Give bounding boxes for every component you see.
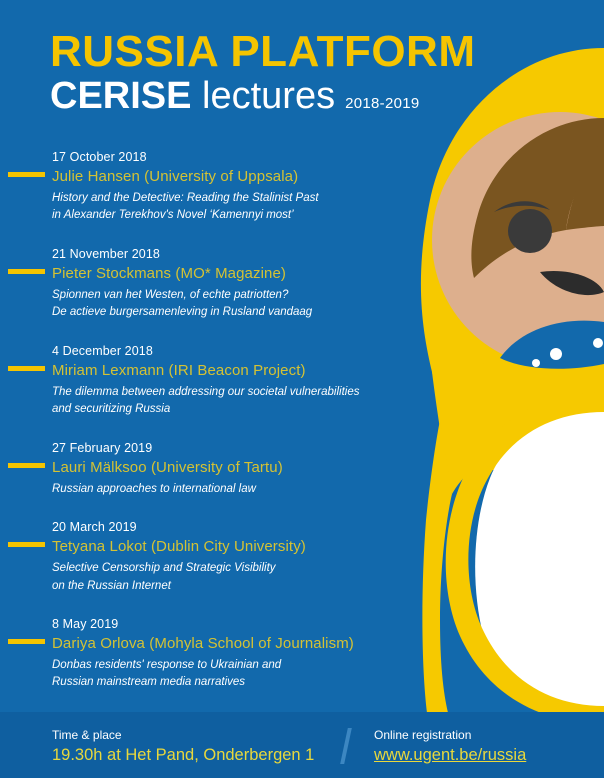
lecture-topic-line: Selective Censorship and Strategic Visib… xyxy=(52,560,430,577)
doll-dress xyxy=(430,300,604,720)
doll-scarf-front xyxy=(432,330,604,494)
lecture-item: 21 November 2018 Pieter Stockmans (MO* M… xyxy=(0,245,430,321)
poster-header: RUSSIA PLATFORM CERISE lectures 2018-201… xyxy=(50,30,475,117)
footer-registration-block: Online registration www.ugent.be/russia xyxy=(374,726,526,768)
lecture-speaker: Tetyana Lokot (Dublin City University) xyxy=(52,536,430,559)
registration-label: Online registration xyxy=(374,726,526,744)
accent-bar-icon xyxy=(8,172,45,177)
lecture-topic-line: on the Russian Internet xyxy=(52,578,430,595)
lecture-date: 27 February 2019 xyxy=(52,439,430,457)
page-subtitle: CERISE lectures xyxy=(50,77,335,117)
doll-scarf-dot-2 xyxy=(550,348,562,360)
lecture-date: 21 November 2018 xyxy=(52,245,430,263)
doll-scarf-leaf xyxy=(500,321,604,369)
footer-inner: Time & place 19.30h at Het Pand, Onderbe… xyxy=(0,712,604,778)
lecture-topic-line: Spionnen van het Westen, of echte patrio… xyxy=(52,287,430,304)
registration-link[interactable]: www.ugent.be/russia xyxy=(374,744,526,768)
accent-bar-icon xyxy=(8,366,45,371)
lecture-speaker: Dariya Orlova (Mohyla School of Journali… xyxy=(52,633,430,656)
footer-time-place-block: Time & place 19.30h at Het Pand, Onderbe… xyxy=(52,726,314,768)
doll-face xyxy=(432,112,604,368)
page-title: RUSSIA PLATFORM xyxy=(50,30,475,75)
accent-bar-icon xyxy=(8,542,45,547)
lecture-topic-line: The dilemma between addressing our socie… xyxy=(52,384,430,401)
lecture-topic-line: in Alexander Terekhov's Novel ‘Kamennyi … xyxy=(52,207,430,224)
academic-years: 2018-2019 xyxy=(345,95,419,112)
lecture-speaker: Julie Hansen (University of Uppsala) xyxy=(52,166,430,189)
doll-eyebrow xyxy=(494,201,550,212)
accent-bar-icon xyxy=(8,639,45,644)
lecture-date: 17 October 2018 xyxy=(52,148,430,166)
lecture-topic-line: History and the Detective: Reading the S… xyxy=(52,190,430,207)
lecture-topic-line: Russian approaches to international law xyxy=(52,481,430,498)
doll-hair xyxy=(471,118,604,278)
lecture-speaker: Miriam Lexmann (IRI Beacon Project) xyxy=(52,360,430,383)
lecture-date: 20 March 2019 xyxy=(52,518,430,536)
lecture-date: 8 May 2019 xyxy=(52,615,430,633)
lecture-item: 4 December 2018 Miriam Lexmann (IRI Beac… xyxy=(0,342,430,418)
lecture-topic-line: Donbas residents' response to Ukrainian … xyxy=(52,657,430,674)
lecture-list: 17 October 2018 Julie Hansen (University… xyxy=(0,148,430,712)
time-place-label: Time & place xyxy=(52,726,314,744)
time-place-value: 19.30h at Het Pand, Onderbergen 1 xyxy=(52,744,314,768)
doll-scarf-dot-1 xyxy=(532,359,540,367)
lecture-item: 27 February 2019 Lauri Mälksoo (Universi… xyxy=(0,439,430,497)
subtitle-row: CERISE lectures 2018-2019 xyxy=(50,77,475,117)
subtitle-bold: CERISE xyxy=(50,75,191,117)
doll-smile xyxy=(540,271,604,295)
lecture-topic-line: Russian mainstream media narratives xyxy=(52,674,430,691)
poster-footer: Time & place 19.30h at Het Pand, Onderbe… xyxy=(0,712,604,778)
accent-bar-icon xyxy=(8,269,45,274)
accent-bar-icon xyxy=(8,463,45,468)
doll-hair-fringe xyxy=(566,138,604,230)
subtitle-light: lectures xyxy=(191,75,335,117)
doll-apron-border xyxy=(446,392,604,724)
doll-apron xyxy=(475,398,604,724)
lecture-topic-line: and securitizing Russia xyxy=(52,401,430,418)
doll-arm-band xyxy=(455,404,604,500)
lecture-topic-line: De actieve burgersamenleving in Rusland … xyxy=(52,304,430,321)
lecture-date: 4 December 2018 xyxy=(52,342,430,360)
doll-scarf-dot-3 xyxy=(593,338,603,348)
lecture-item: 8 May 2019 Dariya Orlova (Mohyla School … xyxy=(0,615,430,691)
lecture-speaker: Lauri Mälksoo (University of Tartu) xyxy=(52,457,430,480)
lecture-item: 20 March 2019 Tetyana Lokot (Dublin City… xyxy=(0,518,430,594)
poster-root: RUSSIA PLATFORM CERISE lectures 2018-201… xyxy=(0,0,604,778)
lecture-item: 17 October 2018 Julie Hansen (University… xyxy=(0,148,430,224)
lecture-speaker: Pieter Stockmans (MO* Magazine) xyxy=(52,263,430,286)
doll-eye xyxy=(508,209,552,253)
slash-divider-icon xyxy=(340,728,352,764)
